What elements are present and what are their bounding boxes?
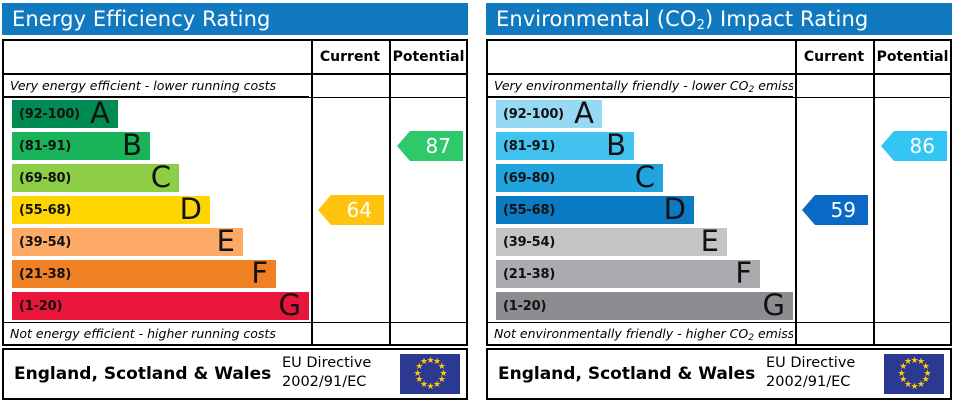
band-g: (1-20)G [496, 292, 793, 320]
band-range-c: (69-80) [12, 171, 71, 186]
co2-impact-panel: Environmental (CO2) Impact Rating Curren… [484, 0, 956, 404]
caption-top-text-post: emissions [754, 78, 793, 93]
band-letter-d: D [180, 195, 202, 224]
band-letter-c: C [635, 163, 655, 192]
band-range-a: (92-100) [496, 107, 564, 122]
band-range-e: (39-54) [496, 235, 555, 250]
caption-bottom-text: Not environmentally friendly - higher CO [494, 326, 748, 341]
energy-efficiency-grid: Current Potential Very energy efficient … [2, 39, 468, 346]
band-e: (39-54)E [496, 228, 727, 256]
caption-bottom: Not energy efficient - higher running co… [4, 322, 309, 344]
band-letter-b: B [122, 131, 142, 160]
potential-rating-value: 86 [910, 134, 935, 158]
footer-region: England, Scotland & Wales [498, 350, 755, 398]
potential-rating-value: 87 [426, 134, 451, 158]
column-divider-current [311, 41, 313, 344]
potential-rating-arrow: 86 [881, 131, 947, 161]
band-letter-g: G [763, 291, 785, 320]
caption-bottom-subscript: 2 [748, 333, 754, 343]
column-header-row: Current Potential [4, 41, 466, 75]
band-list-energy: (92-100)A(81-91)B(69-80)C(55-68)D(39-54)… [4, 98, 309, 322]
caption-bottom-text: Not energy efficient - higher running co… [10, 326, 276, 341]
footer-directive: EU Directive 2002/91/EC [766, 354, 876, 392]
band-letter-e: E [701, 227, 719, 256]
band-letter-f: F [735, 259, 752, 288]
band-f: (21-38)F [496, 260, 760, 288]
band-f: (21-38)F [12, 260, 276, 288]
header-current: Current [795, 41, 873, 73]
band-letter-a: A [574, 99, 594, 128]
caption-top-text: Very environmentally friendly - lower CO [494, 78, 748, 93]
current-rating-arrow: 59 [802, 195, 868, 225]
current-rating-value: 59 [831, 198, 856, 222]
band-e: (39-54)E [12, 228, 243, 256]
band-a: (92-100)A [12, 100, 118, 128]
current-rating-arrow: 64 [318, 195, 384, 225]
band-c: (69-80)C [12, 164, 179, 192]
eu-flag-icon: ★★★★★★★★★★★★ [884, 354, 944, 394]
band-letter-a: A [90, 99, 110, 128]
column-divider-current [795, 41, 797, 344]
band-range-f: (21-38) [496, 267, 555, 282]
band-range-d: (55-68) [12, 203, 71, 218]
title-text-pre: Energy Efficiency Rating [12, 7, 270, 31]
current-rating-value: 64 [347, 198, 372, 222]
title-text-post: ) Impact Rating [705, 7, 868, 31]
column-divider-potential [389, 41, 391, 344]
header-potential: Potential [391, 41, 466, 73]
directive-line-2: 2002/91/EC [282, 373, 392, 392]
band-range-b: (81-91) [496, 139, 555, 154]
band-letter-f: F [251, 259, 268, 288]
band-letter-g: G [279, 291, 301, 320]
band-range-e: (39-54) [12, 235, 71, 250]
header-potential: Potential [875, 41, 950, 73]
column-header-row: Current Potential [488, 41, 950, 75]
band-range-g: (1-20) [12, 299, 62, 314]
energy-efficiency-title: Energy Efficiency Rating [2, 3, 468, 35]
directive-line-1: EU Directive [766, 354, 876, 373]
band-list-co2: (92-100)A(81-91)B(69-80)C(55-68)D(39-54)… [488, 98, 793, 322]
band-b: (81-91)B [496, 132, 634, 160]
directive-line-1: EU Directive [282, 354, 392, 373]
eu-flag-star: ★ [420, 359, 427, 366]
co2-impact-grid: Current Potential Very environmentally f… [486, 39, 952, 346]
band-range-g: (1-20) [496, 299, 546, 314]
band-range-c: (69-80) [496, 171, 555, 186]
band-a: (92-100)A [496, 100, 602, 128]
band-letter-c: C [151, 163, 171, 192]
band-letter-e: E [217, 227, 235, 256]
eu-flag-icon: ★★★★★★★★★★★★ [400, 354, 460, 394]
band-d: (55-68)D [12, 196, 210, 224]
directive-line-2: 2002/91/EC [766, 373, 876, 392]
band-b: (81-91)B [12, 132, 150, 160]
band-letter-b: B [606, 131, 626, 160]
co2-impact-title: Environmental (CO2) Impact Rating [486, 3, 952, 35]
band-range-d: (55-68) [496, 203, 555, 218]
co2-footer: England, Scotland & Wales EU Directive 2… [486, 348, 952, 400]
caption-bottom: Not environmentally friendly - higher CO… [488, 322, 793, 344]
eu-flag-star: ★ [904, 359, 911, 366]
footer-region: England, Scotland & Wales [14, 350, 271, 398]
caption-top: Very energy efficient - lower running co… [4, 75, 309, 97]
band-letter-d: D [664, 195, 686, 224]
band-d: (55-68)D [496, 196, 694, 224]
caption-bottom-text-post: emissions [754, 326, 793, 341]
title-subscript: 2 [697, 18, 705, 33]
band-g: (1-20)G [12, 292, 309, 320]
energy-efficiency-panel: Energy Efficiency Rating Current Potenti… [0, 0, 472, 404]
header-current: Current [311, 41, 389, 73]
energy-footer: England, Scotland & Wales EU Directive 2… [2, 348, 468, 400]
band-range-a: (92-100) [12, 107, 80, 122]
band-c: (69-80)C [496, 164, 663, 192]
caption-top: Very environmentally friendly - lower CO… [488, 75, 793, 97]
epc-rating-charts: Energy Efficiency Rating Current Potenti… [0, 0, 957, 404]
title-text-pre: Environmental (CO [496, 7, 697, 31]
band-range-f: (21-38) [12, 267, 71, 282]
caption-top-text: Very energy efficient - lower running co… [10, 78, 276, 93]
footer-directive: EU Directive 2002/91/EC [282, 354, 392, 392]
band-range-b: (81-91) [12, 139, 71, 154]
column-divider-potential [873, 41, 875, 344]
caption-top-subscript: 2 [748, 85, 754, 95]
potential-rating-arrow: 87 [397, 131, 463, 161]
